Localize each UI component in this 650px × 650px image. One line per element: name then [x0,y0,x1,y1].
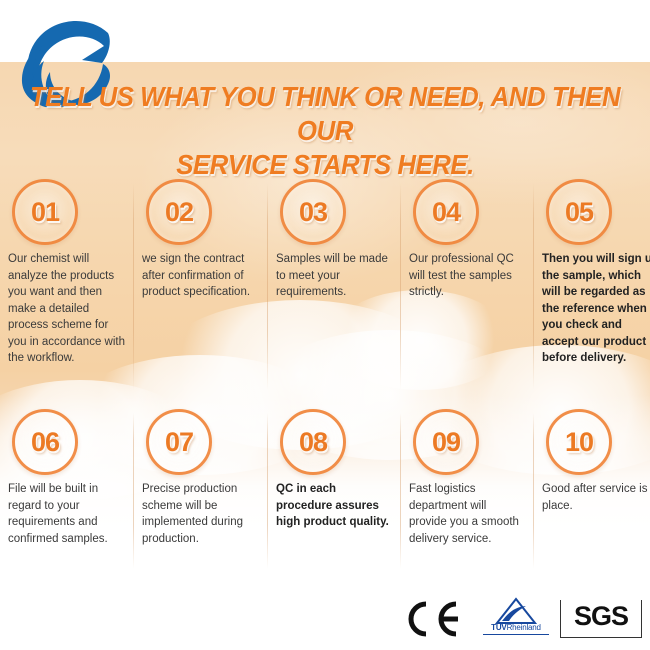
step-card-06: 06 File will be built in regard to your … [0,405,133,575]
step-number: 02 [146,179,212,245]
steps-row-1: 01 Our chemist will analyze the products… [0,175,650,400]
step-number: 09 [413,409,479,475]
step-number: 08 [280,409,346,475]
certification-logos: TÜVRheinland SGS [388,596,644,644]
step-description: Then you will sign up the sample, which … [542,251,650,367]
step-card-04: 04 Our professional QC will test the sam… [401,175,534,400]
step-number: 01 [12,179,78,245]
steps-row-2: 06 File will be built in regard to your … [0,405,650,575]
step-card-05: 05 Then you will sign up the sample, whi… [534,175,650,400]
step-description: Our chemist will analyze the products yo… [8,251,126,367]
step-number: 10 [546,409,612,475]
service-process-banner: TELL US WHAT YOU THINK OR NEED, AND THEN… [0,0,650,650]
step-card-07: 07 Precise production scheme will be imp… [134,405,267,575]
step-description: File will be built in regard to your req… [8,481,126,547]
sgs-left-rule [560,600,561,638]
tuv-triangle-icon [493,597,539,625]
step-number: 03 [280,179,346,245]
tuv-rheinland-mark: TÜVRheinland [480,597,552,635]
step-card-09: 09 Fast logistics department will provid… [401,405,534,575]
tuv-underline [483,634,549,635]
step-description: QC in each procedure assures high produc… [276,481,394,531]
step-card-03: 03 Samples will be made to meet your req… [268,175,401,400]
step-description: we sign the contract after confirmation … [142,251,260,301]
sgs-wordmark: SGS [560,600,642,632]
step-card-02: 02 we sign the contract after confirmati… [134,175,267,400]
step-number: 04 [413,179,479,245]
step-card-10: 10 Good after service is in place. [534,405,650,575]
sgs-right-rule [641,600,642,638]
sgs-mark: SGS [560,600,642,638]
step-number: 06 [12,409,78,475]
step-card-01: 01 Our chemist will analyze the products… [0,175,133,400]
step-description: Fast logistics department will provide y… [409,481,527,547]
tuv-wordmark: TÜVRheinland [480,623,552,632]
step-description: Samples will be made to meet your requir… [276,251,394,301]
step-number: 07 [146,409,212,475]
step-description: Good after service is in place. [542,481,650,514]
step-number: 05 [546,179,612,245]
page-title: TELL US WHAT YOU THINK OR NEED, AND THEN… [26,80,624,182]
step-description: Our professional QC will test the sample… [409,251,527,301]
step-card-08: 08 QC in each procedure assures high pro… [268,405,401,575]
step-description: Precise production scheme will be implem… [142,481,260,547]
sgs-bottom-rule [560,637,642,638]
ce-mark-icon [396,600,460,643]
